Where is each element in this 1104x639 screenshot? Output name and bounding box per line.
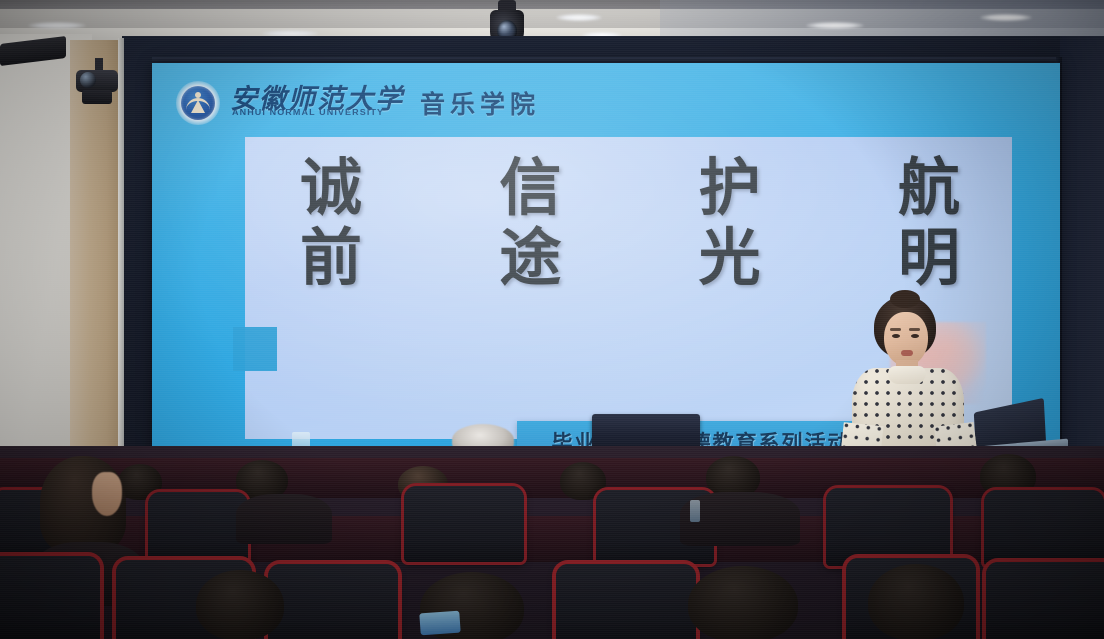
headline-column: 护 光: [699, 153, 761, 293]
audience-person-head: [868, 564, 964, 639]
auditorium-seat[interactable]: [826, 488, 950, 566]
presenter-mouth: [901, 350, 913, 356]
auditorium-seat[interactable]: [986, 562, 1104, 639]
university-name-en: ANHUI NORMAL UNIVERSITY: [232, 107, 384, 116]
headline-column: 诚 前: [300, 153, 362, 293]
column-edge-trim: [118, 38, 124, 508]
right-wall-panel: [1060, 36, 1104, 506]
presenter-hair-bun: [890, 290, 920, 308]
auditorium-seat[interactable]: [984, 490, 1104, 566]
headline-char-bottom: 光: [699, 223, 761, 293]
slide-headline: 诚 前 信 途 护 光 航 明: [300, 153, 960, 293]
auditorium-seat[interactable]: [148, 492, 248, 562]
auditorium-seat[interactable]: [404, 486, 524, 562]
headline-char-top: 航: [898, 153, 960, 223]
auditorium-seat[interactable]: [268, 564, 398, 639]
blue-square-decor-icon: [233, 327, 277, 371]
audience-person-head: [196, 570, 284, 639]
presenter-collar: [888, 366, 926, 384]
audience-person-shoulders: [236, 494, 332, 544]
wood-column: [70, 40, 122, 508]
anhui-normal-university-seal-icon: [176, 81, 220, 125]
presenter-eye-right: [911, 334, 919, 338]
auditorium-seat[interactable]: [0, 556, 100, 639]
presenter-eye-left: [892, 334, 900, 338]
audience-person-head: [688, 566, 798, 639]
headline-char-top: 护: [699, 153, 761, 223]
headline-char-top: 诚: [300, 153, 362, 223]
auditorium-seat[interactable]: [556, 564, 696, 639]
recessed-ceiling-light-icon: [556, 14, 602, 21]
slide-header: 安徽师范大学 ANHUI NORMAL UNIVERSITY 音乐学院: [152, 63, 1060, 137]
headline-char-bottom: 前: [300, 223, 362, 293]
auditorium-presentation-photo: 安徽师范大学 ANHUI NORMAL UNIVERSITY 音乐学院 诚 前 …: [0, 0, 1104, 639]
presenter-eyebrow-right: [909, 328, 920, 331]
recessed-ceiling-light-icon: [980, 14, 1032, 21]
headline-column: 航 明: [898, 153, 960, 293]
headline-char-bottom: 明: [898, 223, 960, 293]
camera-lens: [80, 72, 96, 88]
headline-column: 信 途: [499, 153, 561, 293]
college-name-cn: 音乐学院: [420, 85, 540, 121]
headline-char-top: 信: [499, 153, 561, 223]
phone-screen-glow-icon[interactable]: [419, 611, 460, 636]
audience-person-face: [92, 472, 122, 516]
recessed-ceiling-light-icon: [28, 22, 86, 29]
recessed-ceiling-light-icon: [806, 22, 864, 29]
audience-foreground: [0, 446, 1104, 639]
phone-screen-glow-icon[interactable]: [690, 500, 700, 522]
presenter-eyebrow-left: [890, 328, 901, 331]
presenter-face: [884, 312, 928, 366]
headline-char-bottom: 途: [499, 223, 561, 293]
camera-base: [82, 90, 112, 104]
wall-mounted-camera-icon: [72, 58, 124, 106]
